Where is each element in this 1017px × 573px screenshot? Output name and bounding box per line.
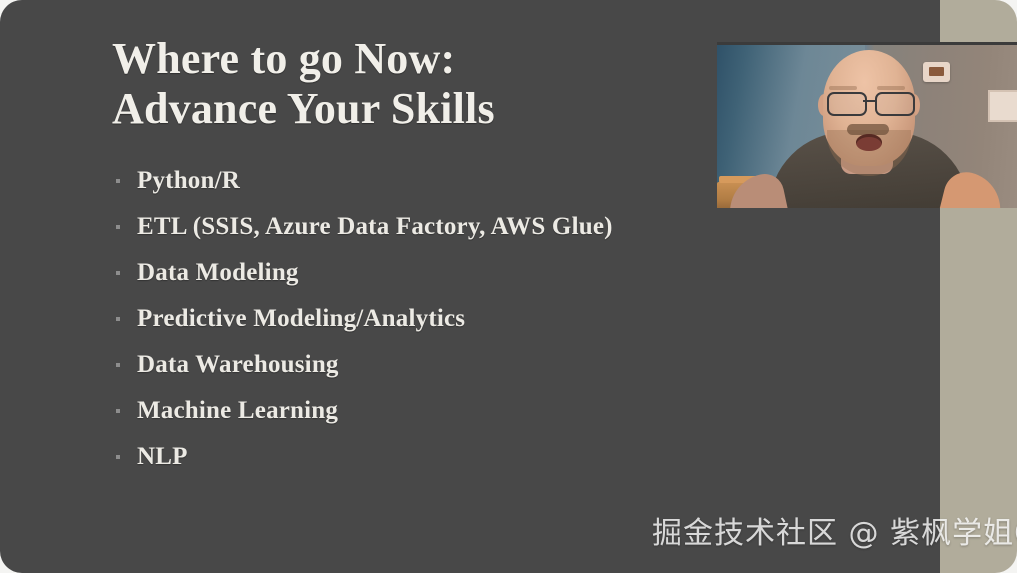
bullet-dot-icon (116, 409, 120, 413)
list-item: Predictive Modeling/Analytics (112, 296, 792, 342)
bullet-dot-icon (116, 363, 120, 367)
list-item: NLP (112, 434, 792, 480)
bullet-dot-icon (116, 455, 120, 459)
bullet-dot-icon (116, 179, 120, 183)
slide-title-line-2: Advance Your Skills (112, 84, 712, 134)
bullet-label: ETL (SSIS, Azure Data Factory, AWS Glue) (137, 213, 613, 241)
presenter-mouth (856, 134, 882, 151)
list-item: Data Warehousing (112, 342, 792, 388)
bullet-label: Data Warehousing (137, 351, 339, 379)
bullet-label: Machine Learning (137, 397, 338, 425)
bullet-dot-icon (116, 225, 120, 229)
presenter-brow-right (877, 86, 905, 90)
list-item: Machine Learning (112, 388, 792, 434)
slide-title-line-1: Where to go Now: (112, 34, 712, 84)
list-item: ETL (SSIS, Azure Data Factory, AWS Glue) (112, 204, 792, 250)
slide-title: Where to go Now: Advance Your Skills (112, 34, 712, 134)
glasses-icon (825, 92, 915, 114)
bullet-label: Python/R (137, 167, 240, 195)
watermark-text: 掘金技术社区 @ 紫枫学姐CDA (652, 516, 1017, 552)
presenter-brow-left (829, 86, 857, 90)
presenter-figure (717, 42, 1017, 208)
list-item: Python/R (112, 158, 792, 204)
webcam-top-edge (717, 42, 1017, 45)
bullet-label: NLP (137, 443, 188, 471)
skills-bullet-list: Python/R ETL (SSIS, Azure Data Factory, … (112, 158, 792, 480)
bullet-dot-icon (116, 317, 120, 321)
bullet-label: Predictive Modeling/Analytics (137, 305, 465, 333)
glasses-lens-right (875, 92, 915, 116)
glasses-lens-left (827, 92, 867, 116)
list-item: Data Modeling (112, 250, 792, 296)
presenter-webcam-overlay[interactable] (717, 42, 1017, 208)
bullet-label: Data Modeling (137, 259, 299, 287)
slide-viewer: Where to go Now: Advance Your Skills Pyt… (0, 0, 1017, 573)
bullet-dot-icon (116, 271, 120, 275)
